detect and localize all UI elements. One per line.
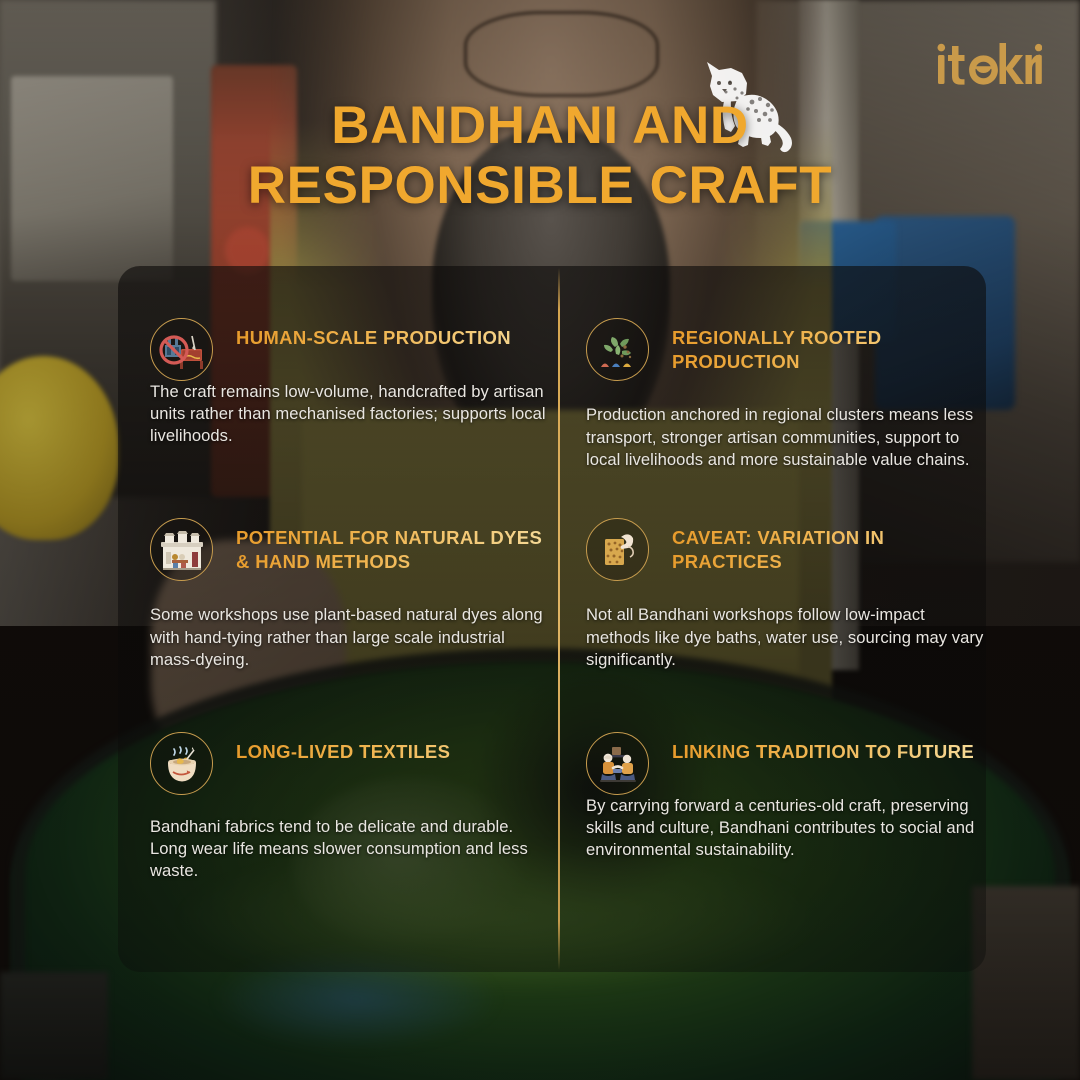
feature-block-natural-dyes-hand-methods: POTENTIAL FOR NATURAL DYES & HAND METHOD…: [150, 518, 550, 671]
column-divider: [558, 268, 560, 970]
hand-holding-fabric-icon: [586, 518, 649, 581]
feature-block-regionally-rooted-production: REGIONALLY ROOTED PRODUCTION Production …: [586, 318, 986, 471]
feature-body: Not all Bandhani workshops follow low-im…: [586, 604, 986, 671]
itokri-wordmark-icon: [936, 41, 1042, 87]
workshop-building-icon: [150, 518, 213, 581]
feature-block-long-lived-textiles: LONG-LIVED TEXTILES Bandhani fabrics ten…: [150, 732, 550, 882]
brand-logo-itokri[interactable]: [936, 40, 1042, 88]
feature-heading: CAVEAT: VARIATION IN PRACTICES: [672, 518, 986, 573]
feature-body: Some workshops use plant-based natural d…: [150, 604, 550, 671]
feature-block-linking-tradition-to-future: LINKING TRADITION TO FUTURE By carrying …: [586, 732, 986, 861]
feature-body: The craft remains low-volume, handcrafte…: [150, 381, 550, 448]
feature-body: Bandhani fabrics tend to be delicate and…: [150, 816, 550, 883]
feature-body: Production anchored in regional clusters…: [586, 404, 986, 471]
feature-block-human-scale-production: HUMAN-SCALE PRODUCTION The craft remains…: [150, 318, 550, 447]
dye-pot-icon: [150, 732, 213, 795]
infographic-poster: BANDHANI AND RESPONSIBLE CRAFT: [0, 0, 1080, 1080]
feature-body: By carrying forward a centuries-old craf…: [586, 795, 986, 862]
feature-heading: REGIONALLY ROOTED PRODUCTION: [672, 318, 986, 373]
page-title: BANDHANI AND RESPONSIBLE CRAFT: [0, 96, 1080, 216]
plants-and-dye-powders-icon: [586, 318, 649, 381]
feature-heading: LONG-LIVED TEXTILES: [236, 732, 550, 764]
feature-block-caveat-variation-in-practices: CAVEAT: VARIATION IN PRACTICES Not all B…: [586, 518, 986, 671]
feature-heading: POTENTIAL FOR NATURAL DYES & HAND METHOD…: [236, 518, 550, 573]
feature-heading: LINKING TRADITION TO FUTURE: [672, 732, 986, 764]
two-artisans-icon: [586, 732, 649, 795]
no-factory-icon: [150, 318, 213, 381]
feature-heading: HUMAN-SCALE PRODUCTION: [236, 318, 550, 350]
